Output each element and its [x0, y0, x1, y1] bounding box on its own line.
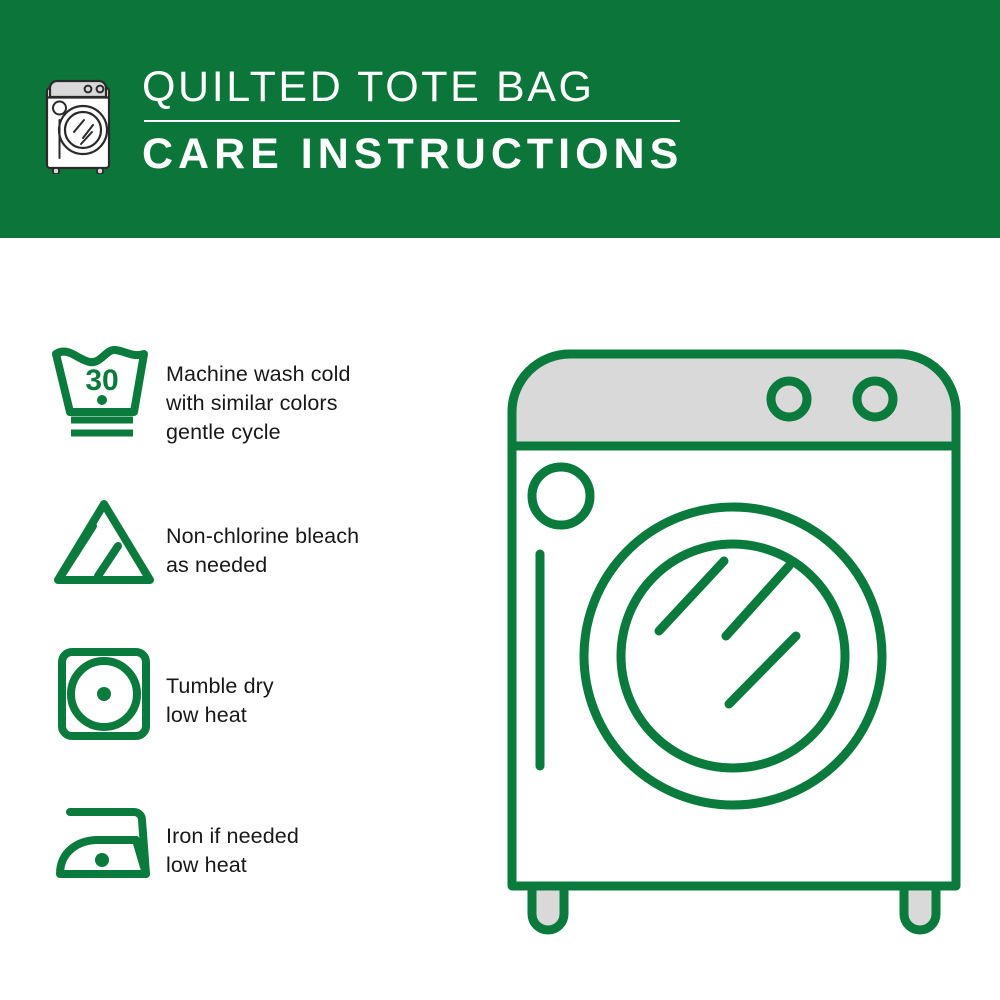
machine-leg: [904, 886, 936, 930]
list-item-label: Non-chlorine bleach as needed: [166, 486, 359, 580]
list-item: 30 Machine wash cold with similar colors…: [48, 336, 468, 486]
header-banner: QUILTED TOTE BAG CARE INSTRUCTIONS: [0, 0, 1000, 238]
care-instructions-infographic: QUILTED TOTE BAG CARE INSTRUCTIONS 30: [0, 0, 1000, 1000]
machine-leg: [532, 886, 564, 930]
list-item-label: Machine wash cold with similar colors ge…: [166, 336, 351, 447]
list-item: Tumble dry low heat: [48, 636, 468, 786]
list-item-label: Tumble dry low heat: [166, 636, 274, 730]
list-item: Non-chlorine bleach as needed: [48, 486, 468, 636]
header-content: QUILTED TOTE BAG CARE INSTRUCTIONS: [38, 62, 938, 182]
tumble-dry-icon: [48, 636, 166, 746]
wash-temperature-label: 30: [85, 364, 118, 397]
care-instruction-list: 30 Machine wash cold with similar colors…: [48, 336, 468, 936]
list-item-label: Iron if needed low heat: [166, 786, 299, 880]
page-subtitle: CARE INSTRUCTIONS: [142, 128, 742, 180]
list-item: Iron if needed low heat: [48, 786, 468, 936]
iron-icon: [48, 786, 166, 896]
front-load-washing-machine-illustration: [484, 326, 984, 936]
wash-tub-icon: 30: [48, 336, 166, 446]
washing-machine-icon: [38, 68, 128, 174]
header-title-block: QUILTED TOTE BAG CARE INSTRUCTIONS: [142, 62, 742, 180]
bleach-triangle-icon: [48, 486, 166, 596]
page-title: QUILTED TOTE BAG: [142, 62, 742, 112]
title-divider: [144, 120, 680, 122]
